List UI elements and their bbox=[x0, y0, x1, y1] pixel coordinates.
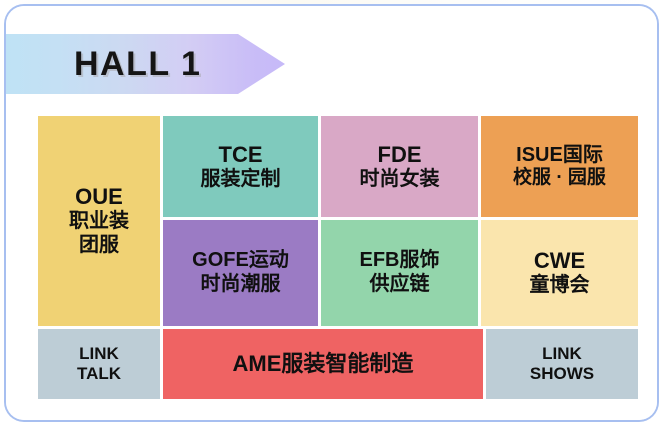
hall-cell-fde-line-1: FDE bbox=[378, 142, 422, 168]
hall-cell-gofe-line-1: GOFE运动 bbox=[192, 249, 289, 273]
hall-grid: OUE职业装团服TCE服装定制FDE时尚女装ISUE国际校服 · 园服GOFE运… bbox=[38, 116, 638, 399]
hall-cell-oue-line-2: 职业装 bbox=[69, 210, 129, 234]
screenshot-root: HALL 1 OUE职业装团服TCE服装定制FDE时尚女装ISUE国际校服 · … bbox=[0, 0, 663, 428]
hall-cell-tce[interactable]: TCE服装定制 bbox=[163, 116, 318, 217]
hall-cell-tce-line-1: TCE bbox=[219, 142, 263, 168]
hall-cell-fde[interactable]: FDE时尚女装 bbox=[321, 116, 478, 217]
hall-cell-fde-line-2: 时尚女装 bbox=[360, 168, 440, 192]
hall-map-card: HALL 1 OUE职业装团服TCE服装定制FDE时尚女装ISUE国际校服 · … bbox=[6, 6, 657, 420]
hall-cell-isue-line-2: 校服 · 园服 bbox=[513, 167, 606, 189]
hall-cell-tce-line-2: 服装定制 bbox=[201, 168, 281, 192]
hall-cell-link-shows-line-1: LINK bbox=[542, 344, 582, 364]
hall-cell-oue-line-3: 团服 bbox=[79, 234, 119, 258]
hall-cell-efb-line-1: EFB服饰 bbox=[360, 249, 440, 273]
hall-cell-ame-line-1: AME服装智能制造 bbox=[233, 351, 414, 377]
hall-cell-isue[interactable]: ISUE国际校服 · 园服 bbox=[481, 116, 638, 217]
hall-cell-link-talk-line-2: TALK bbox=[77, 364, 121, 384]
hall-cell-gofe[interactable]: GOFE运动时尚潮服 bbox=[163, 220, 318, 326]
hall-cell-link-shows[interactable]: LINKSHOWS bbox=[486, 329, 638, 399]
hall-cell-ame[interactable]: AME服装智能制造 bbox=[163, 329, 483, 399]
hall-cell-efb-line-2: 供应链 bbox=[370, 273, 430, 297]
hall-cell-cwe-line-2: 童博会 bbox=[530, 274, 590, 298]
hall-cell-link-talk-line-1: LINK bbox=[79, 344, 119, 364]
hall-cell-link-shows-line-2: SHOWS bbox=[530, 364, 594, 384]
hall-cell-efb[interactable]: EFB服饰供应链 bbox=[321, 220, 478, 326]
hall-cell-oue-line-1: OUE bbox=[75, 184, 123, 210]
hall-cell-oue[interactable]: OUE职业装团服 bbox=[38, 116, 160, 326]
hall-banner: HALL 1 bbox=[6, 34, 285, 94]
hall-cell-gofe-line-2: 时尚潮服 bbox=[201, 273, 281, 297]
hall-cell-isue-line-1: ISUE国际 bbox=[516, 144, 603, 168]
hall-banner-label: HALL 1 bbox=[74, 45, 201, 84]
hall-cell-link-talk[interactable]: LINKTALK bbox=[38, 329, 160, 399]
hall-cell-cwe-line-1: CWE bbox=[534, 248, 585, 274]
hall-cell-cwe[interactable]: CWE童博会 bbox=[481, 220, 638, 326]
